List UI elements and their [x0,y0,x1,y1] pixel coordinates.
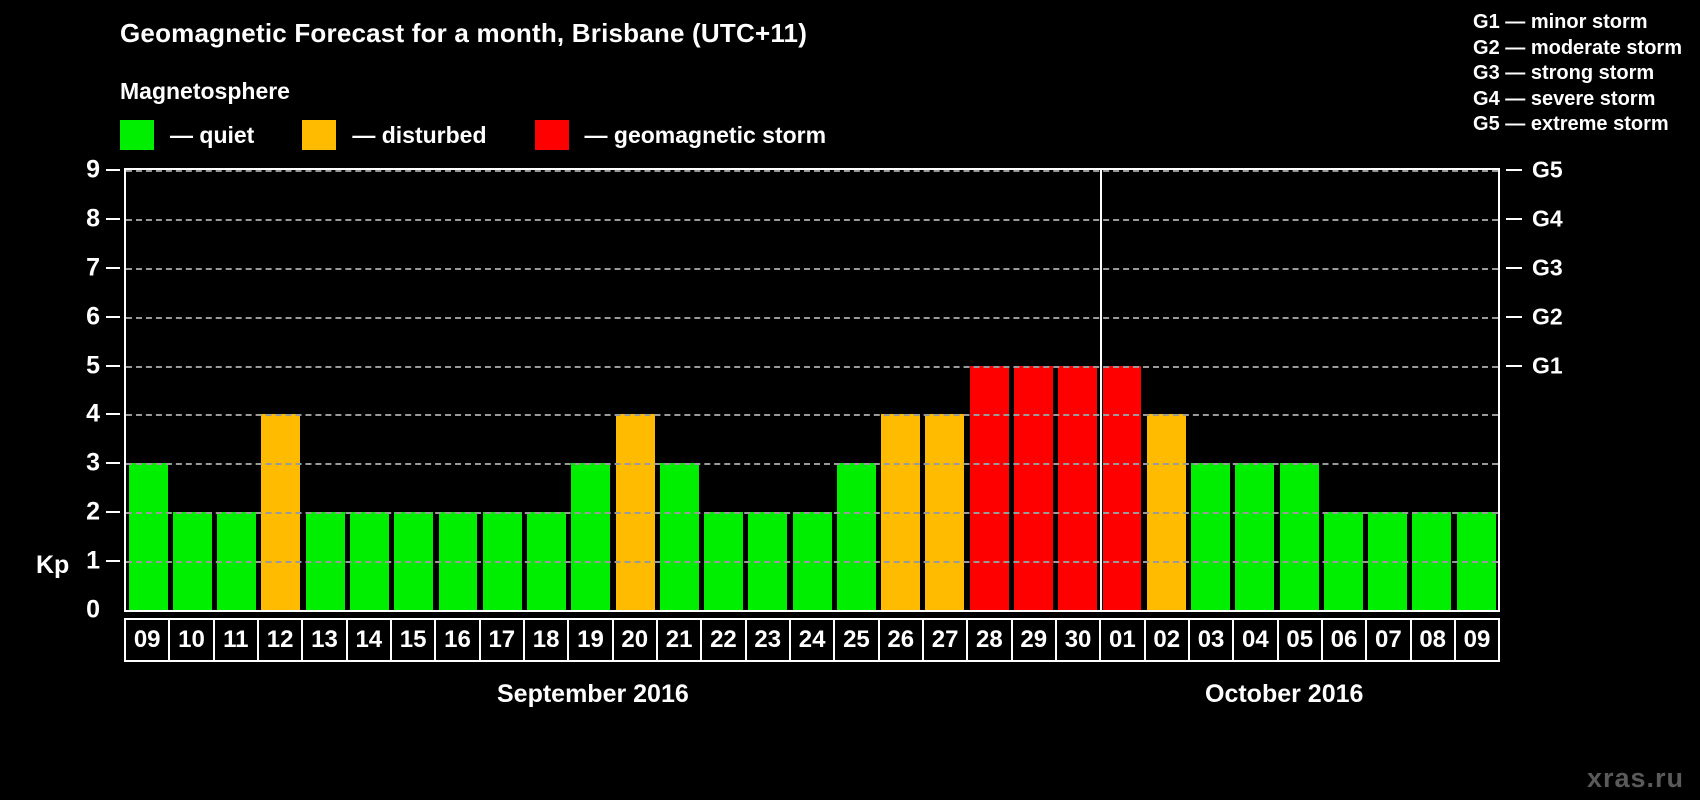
gscale-row-4: G4 — severe storm [1473,87,1682,113]
bar-slot[interactable] [480,170,524,610]
y-tick-mark-9 [106,169,120,171]
bar-slot[interactable] [790,170,834,610]
bar-slot[interactable] [1365,170,1409,610]
gscale-row-5: G5 — extreme storm [1473,112,1682,138]
day-label[interactable]: 06 [1323,620,1367,660]
day-label[interactable]: 30 [1057,620,1101,660]
g-tick-mark-G5 [1506,169,1522,171]
bar-slot[interactable] [1233,170,1277,610]
bar-slot[interactable] [392,170,436,610]
day-label[interactable]: 22 [702,620,746,660]
day-label[interactable]: 01 [1101,620,1145,660]
bar[interactable] [1235,463,1274,610]
day-label[interactable]: 11 [215,620,259,660]
y-tick-label-1: 1 [86,547,100,576]
day-label[interactable]: 09 [126,620,170,660]
bar-slot[interactable] [1321,170,1365,610]
day-label[interactable]: 24 [791,620,835,660]
bar-slot[interactable] [303,170,347,610]
y-tick-mark-5 [106,365,120,367]
day-label[interactable]: 05 [1279,620,1323,660]
bar-slot[interactable] [524,170,568,610]
bar-slot[interactable] [1454,170,1498,610]
bar-slot[interactable] [657,170,701,610]
bar-slot[interactable] [1277,170,1321,610]
day-label[interactable]: 18 [525,620,569,660]
bar[interactable] [660,463,699,610]
day-label[interactable]: 13 [303,620,347,660]
legend-item-storm: — geomagnetic storm [535,120,827,150]
day-label[interactable]: 29 [1013,620,1057,660]
y-tick-mark-4 [106,413,120,415]
day-label[interactable]: 17 [481,620,525,660]
bar[interactable] [1014,366,1053,610]
legend-swatch-storm [535,120,569,150]
g-tick-label-G2: G2 [1532,303,1563,330]
day-label[interactable]: 04 [1234,620,1278,660]
bar-slot[interactable] [834,170,878,610]
day-label[interactable]: 12 [259,620,303,660]
g-axis: G5G4G3G2G1 [1504,168,1684,612]
gridline-kp-1 [126,561,1498,563]
magnetosphere-label: Magnetosphere [120,78,290,105]
today-marker [1100,170,1102,610]
bar[interactable] [1280,463,1319,610]
y-tick-label-7: 7 [86,253,100,282]
y-tick-label-3: 3 [86,449,100,478]
legend-item-disturbed: — disturbed [302,120,486,150]
g-tick-mark-G3 [1506,267,1522,269]
y-tick-label-9: 9 [86,156,100,185]
bar-slot[interactable] [259,170,303,610]
gscale-row-2: G2 — moderate storm [1473,36,1682,62]
gscale-legend: G1 — minor stormG2 — moderate stormG3 — … [1473,10,1682,138]
day-label[interactable]: 09 [1456,620,1498,660]
legend-label-disturbed: — disturbed [352,122,486,149]
gridline-kp-7 [126,268,1498,270]
day-label[interactable]: 23 [747,620,791,660]
day-label[interactable]: 14 [348,620,392,660]
y-tick-label-2: 2 [86,498,100,527]
y-tick-mark-3 [106,462,120,464]
bar[interactable] [129,463,168,610]
legend-label-quiet: — quiet [170,122,254,149]
bar-slot[interactable] [126,170,170,610]
y-tick-mark-2 [106,511,120,513]
day-label[interactable]: 26 [880,620,924,660]
bar-slot[interactable] [436,170,480,610]
day-axis: 0910111213141516171819202122232425262728… [124,618,1500,662]
bar-slot[interactable] [1188,170,1232,610]
y-tick-label-6: 6 [86,302,100,331]
legend-label-storm: — geomagnetic storm [585,122,827,149]
bar[interactable] [1103,366,1142,610]
gridline-kp-9 [126,170,1498,172]
bar-slot[interactable] [967,170,1011,610]
legend-swatch-disturbed [302,120,336,150]
bar[interactable] [837,463,876,610]
bar[interactable] [970,366,1009,610]
bar-slot[interactable] [1056,170,1100,610]
day-label[interactable]: 02 [1146,620,1190,660]
y-axis: Kp 9876543210 [0,168,122,612]
gscale-row-3: G3 — strong storm [1473,61,1682,87]
bar-slot[interactable] [879,170,923,610]
plot-area [124,168,1500,612]
gscale-row-1: G1 — minor storm [1473,10,1682,36]
bar-slot[interactable] [923,170,967,610]
gridline-kp-4 [126,414,1498,416]
bar-slot[interactable] [701,170,745,610]
gridline-kp-5 [126,366,1498,368]
y-tick-mark-8 [106,218,120,220]
bar-slot[interactable] [569,170,613,610]
bar-slot[interactable] [170,170,214,610]
bar-slot[interactable] [1011,170,1055,610]
y-tick-mark-1 [106,560,120,562]
day-label[interactable]: 07 [1367,620,1411,660]
day-label[interactable]: 19 [569,620,613,660]
y-tick-label-4: 4 [86,400,100,429]
legend: — quiet— disturbed— geomagnetic storm [120,120,874,150]
day-label[interactable]: 21 [658,620,702,660]
day-label[interactable]: 15 [392,620,436,660]
y-tick-label-8: 8 [86,204,100,233]
page-title: Geomagnetic Forecast for a month, Brisba… [120,18,807,49]
g-tick-label-G4: G4 [1532,205,1563,232]
gridline-kp-8 [126,219,1498,221]
y-tick-mark-7 [106,267,120,269]
gridline-kp-3 [126,463,1498,465]
gridline-kp-6 [126,317,1498,319]
watermark: xras.ru [1587,763,1684,794]
bar-slot[interactable] [746,170,790,610]
bar[interactable] [1058,366,1097,610]
bar-slot[interactable] [215,170,259,610]
g-tick-mark-G4 [1506,218,1522,220]
bar[interactable] [1191,463,1230,610]
day-label[interactable]: 28 [968,620,1012,660]
day-label[interactable]: 20 [614,620,658,660]
bar-slot[interactable] [613,170,657,610]
bar[interactable] [571,463,610,610]
y-tick-label-5: 5 [86,351,100,380]
legend-swatch-quiet [120,120,154,150]
bar-slot[interactable] [1410,170,1454,610]
bar-slot[interactable] [347,170,391,610]
g-tick-mark-G2 [1506,316,1522,318]
day-label[interactable]: 16 [436,620,480,660]
day-label[interactable]: 27 [924,620,968,660]
g-tick-label-G3: G3 [1532,254,1563,281]
y-tick-mark-6 [106,316,120,318]
g-tick-label-G5: G5 [1532,157,1563,184]
y-tick-label-0: 0 [86,596,100,625]
day-label[interactable]: 10 [170,620,214,660]
g-tick-label-G1: G1 [1532,352,1563,379]
gridline-kp-2 [126,512,1498,514]
month-label-right: October 2016 [1205,680,1363,709]
bar-slot[interactable] [1144,170,1188,610]
month-label-left: September 2016 [497,680,689,709]
bar-slot[interactable] [1100,170,1144,610]
day-label[interactable]: 08 [1412,620,1456,660]
legend-item-quiet: — quiet [120,120,254,150]
y-axis-label: Kp [36,551,69,580]
bar-series [126,170,1498,610]
day-label[interactable]: 25 [835,620,879,660]
g-tick-mark-G1 [1506,365,1522,367]
day-label[interactable]: 03 [1190,620,1234,660]
